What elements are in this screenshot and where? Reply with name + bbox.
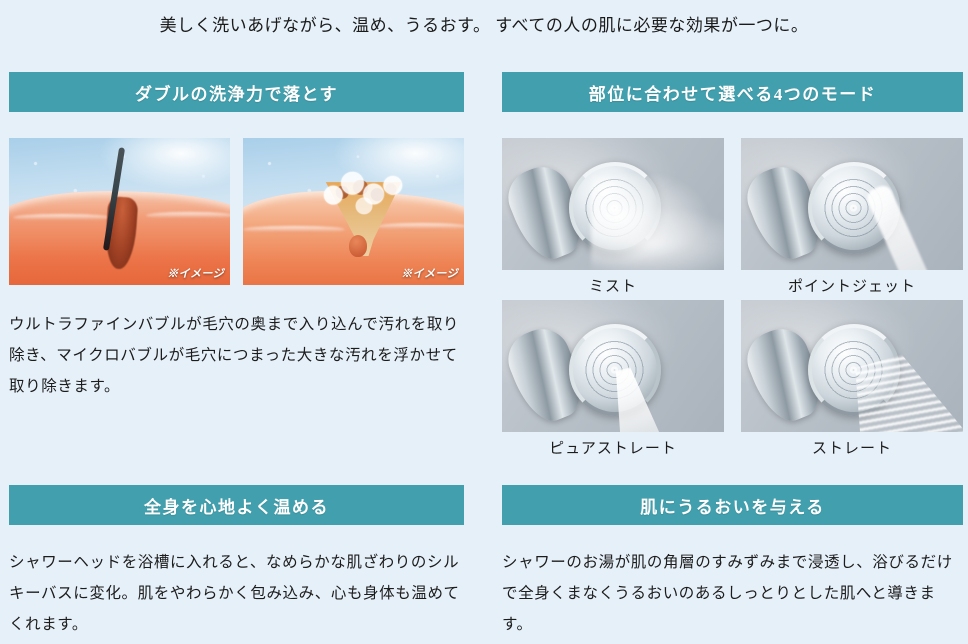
mode-item-mist[interactable]: ミスト — [502, 138, 724, 300]
moisture-body-text: シャワーのお湯が肌の角層のすみずみまで浸透し、浴びるだけで全身くまなくうるおいの… — [502, 547, 963, 640]
mist-shower-image — [502, 138, 724, 270]
lead-copy: 美しく洗いあげながら、温め、うるおす。 すべての人の肌に必要な効果が一つに。 — [0, 0, 968, 46]
micro-bubble-illustration: ※イメージ — [243, 138, 464, 285]
point-jet-shower-image — [741, 138, 963, 270]
moisture-heading: 肌にうるおいを与える — [502, 485, 963, 525]
straight-shower-image — [741, 300, 963, 432]
cleansing-section: ダブルの洗浄力で落とす ※イメージ ※イ — [9, 72, 464, 402]
mode-label: ピュアストレート — [502, 432, 724, 462]
cleansing-heading: ダブルの洗浄力で落とす — [9, 72, 464, 112]
mode-item-point-jet[interactable]: ポイントジェット — [741, 138, 963, 300]
mode-item-straight[interactable]: ストレート — [741, 300, 963, 462]
pure-straight-shower-image — [502, 300, 724, 432]
image-disclaimer-note: ※イメージ — [401, 265, 458, 281]
mist-spray-effect — [591, 175, 724, 270]
modes-section: 部位に合わせて選べる4つのモード ミスト ポイントジェット — [502, 72, 963, 462]
cleansing-body-text: ウルトラファインバブルが毛穴の奥まで入り込んで汚れを取り除き、マイクロバブルが毛… — [9, 309, 464, 402]
image-disclaimer-note: ※イメージ — [167, 265, 224, 281]
mode-label: ストレート — [741, 432, 963, 462]
illustration-bubbles — [316, 167, 412, 221]
shower-nozzle-disc — [569, 324, 661, 416]
mode-item-pure-straight[interactable]: ピュアストレート — [502, 300, 724, 462]
illustration-dirt-particles — [106, 147, 226, 267]
warming-section: 全身を心地よく温める シャワーヘッドを浴槽に入れると、なめらかな肌ざわりのシルキ… — [9, 485, 464, 640]
product-feature-page: 美しく洗いあげながら、温め、うるおす。 すべての人の肌に必要な効果が一つに。 ダ… — [0, 0, 968, 644]
mode-grid: ミスト ポイントジェット ピュアストレート — [502, 138, 963, 462]
warming-body-text: シャワーヘッドを浴槽に入れると、なめらかな肌ざわりのシルキーバスに変化。肌をやわ… — [9, 547, 464, 640]
warming-heading: 全身を心地よく温める — [9, 485, 464, 525]
modes-heading: 部位に合わせて選べる4つのモード — [502, 72, 963, 112]
pore-dirt-illustration: ※イメージ — [9, 138, 230, 285]
mode-label: ポイントジェット — [741, 270, 963, 300]
cleansing-figure-row: ※イメージ ※イメージ — [9, 138, 464, 285]
moisture-section: 肌にうるおいを与える シャワーのお湯が肌の角層のすみずみまで浸透し、浴びるだけで… — [502, 485, 963, 640]
mode-label: ミスト — [502, 270, 724, 300]
illustration-dirt-blob — [349, 235, 367, 257]
